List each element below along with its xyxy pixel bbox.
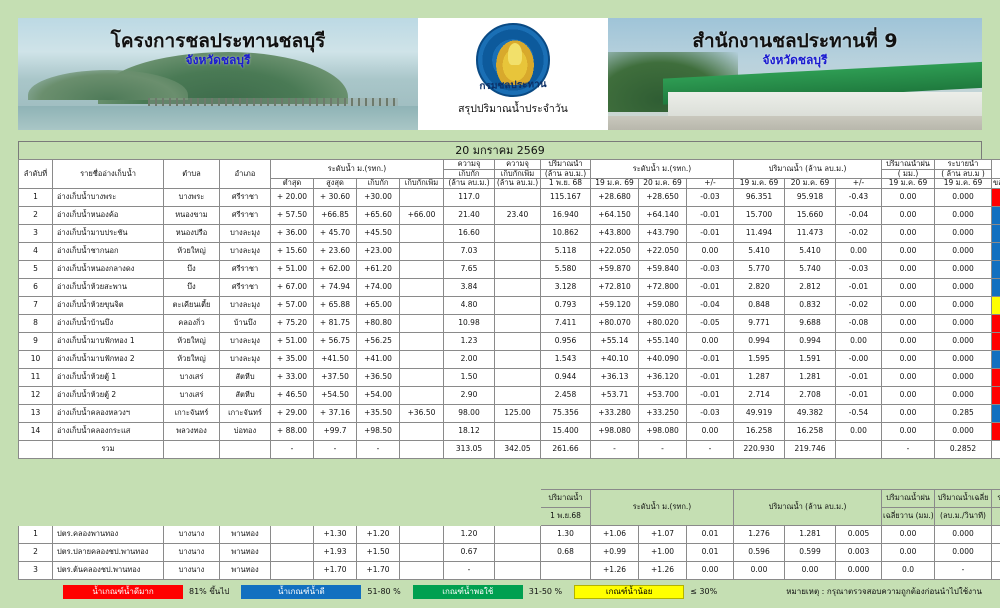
row-capacity: 16.60: [444, 224, 495, 242]
row-reservoir-name: อ่างเก็บน้ำห้วยตู้ 2: [53, 386, 164, 404]
row-level-day1: +43.800: [591, 224, 639, 242]
th-lowest: ต่ำสุด: [271, 179, 314, 189]
row-amphoe: บางละมุง: [220, 332, 271, 350]
sub-row-level-highest: +1.70: [357, 562, 400, 580]
sub-row-no: 1: [19, 526, 53, 544]
sub-row-blank-2: [400, 526, 444, 544]
sub-row-no: 3: [19, 562, 53, 580]
row-volume-nov: 0.956: [541, 332, 591, 350]
row-tambon: หนองขาม: [164, 206, 220, 224]
row-no: 10: [19, 350, 53, 368]
row-drainage: 0.000: [935, 314, 992, 332]
reservoir-summary-table: ลำดับที่ รายชื่ออ่างเก็บน้ำ ตำบล อำเภอ ร…: [18, 159, 1000, 459]
row-level-diff: -0.03: [687, 188, 734, 206]
total-drainage: 0.2852: [935, 440, 992, 458]
table-row: 5อ่างเก็บน้ำหนองกลางดงบึงศรีราชา+ 51.00+…: [19, 260, 1000, 278]
row-tambon: บึง: [164, 278, 220, 296]
table-row: 6อ่างเก็บน้ำห้วยสะพานบึงศรีราชา+ 67.00+ …: [19, 278, 1000, 296]
row-level-storage: +30.00: [357, 188, 400, 206]
sub-row-volume-diff: 0.005: [836, 526, 882, 544]
row-capacity: 117.0: [444, 188, 495, 206]
row-rainfall: 0.00: [882, 260, 935, 278]
row-capacity-extra: [495, 260, 541, 278]
th-drain-date: 19 ม.ค. 69: [935, 179, 992, 189]
row-level-storage: +35.50: [357, 404, 400, 422]
sub-row-capacity: 1.20: [444, 526, 495, 544]
table-row: 7อ่างเก็บน้ำห้วยขุนจิตตะเคียนเตี้ยบางละม…: [19, 296, 1000, 314]
row-volume-nov: 0.793: [541, 296, 591, 314]
row-level-storage-extra: +66.00: [400, 206, 444, 224]
table-row: 8อ่างเก็บน้ำบ้านบึงคลองกิ่วบ้านบึง+ 75.2…: [19, 314, 1000, 332]
row-no: 1: [19, 188, 53, 206]
row-level-lowest: + 57.50: [271, 206, 314, 224]
row-tambon: บางเสร่: [164, 386, 220, 404]
row-volume-nov: 16.940: [541, 206, 591, 224]
row-level-lowest: + 51.00: [271, 260, 314, 278]
sub-row-volume-day1: 1.276: [734, 526, 785, 544]
row-amphoe: สัตหีบ: [220, 386, 271, 404]
row-reservoir-name: อ่างเก็บน้ำบ้านบึง: [53, 314, 164, 332]
row-level-storage-extra: [400, 260, 444, 278]
total-highest: -: [314, 440, 357, 458]
row-no: 5: [19, 260, 53, 278]
row-volume-day2: 9.688: [785, 314, 836, 332]
row-level-storage-extra: [400, 386, 444, 404]
th-level-d2: 20 ม.ค. 69: [639, 179, 687, 189]
row-rainfall: 0.00: [882, 332, 935, 350]
row-level-day2: +59.080: [639, 296, 687, 314]
row-rainfall: 0.00: [882, 422, 935, 440]
row-volume-nov: 5.580: [541, 260, 591, 278]
row-level-storage-extra: [400, 332, 444, 350]
row-volume-nov: 5.118: [541, 242, 591, 260]
th-rain-l1: ปริมาณน้ำฝน: [882, 160, 935, 170]
row-amphoe: บางละมุง: [220, 296, 271, 314]
row-reservoir-name: อ่างเก็บน้ำมาบประชัน: [53, 224, 164, 242]
row-volume-day1: 49.919: [734, 404, 785, 422]
th-cap-storage-unit: (ล้าน ลบ.ม.): [444, 179, 495, 189]
sub-row-gate-lift: 0.00: [992, 544, 1000, 562]
table-row: 12อ่างเก็บน้ำห้วยตู้ 2บางเสร่สัตหีบ+ 46.…: [19, 386, 1000, 404]
row-level-storage-extra: [400, 422, 444, 440]
sub-row-level-day1: +0.99: [591, 544, 639, 562]
total-rainfall: -: [882, 440, 935, 458]
row-level-day2: +22.050: [639, 242, 687, 260]
sub-row-blank-3: [495, 562, 541, 580]
row-level-diff: -0.01: [687, 278, 734, 296]
th-rain-date: 19 ม.ค. 69: [882, 179, 935, 189]
row-level-diff: -0.01: [687, 206, 734, 224]
row-capacity-extra: [495, 188, 541, 206]
row-drainage: 0.000: [935, 206, 992, 224]
row-drainage: 0.000: [935, 332, 992, 350]
row-level-highest: + 56.75: [314, 332, 357, 350]
row-tambon: คลองกิ่ว: [164, 314, 220, 332]
row-volume-day2: 0.832: [785, 296, 836, 314]
row-level-diff: 0.00: [687, 242, 734, 260]
row-level-diff: -0.03: [687, 260, 734, 278]
row-level-diff: -0.04: [687, 296, 734, 314]
row-pct-old: 81.98: [992, 188, 1000, 206]
sub-row-level-day1: +1.06: [591, 526, 639, 544]
row-level-storage-extra: [400, 350, 444, 368]
sub-row-volume-day2: 0.599: [785, 544, 836, 562]
sub-th-vol-group: ปริมาณน้ำ (ล้าน ลบ.ม.): [734, 490, 882, 526]
sub-row-tambon: บางนาง: [164, 544, 220, 562]
row-capacity-extra: 23.40: [495, 206, 541, 224]
row-level-day1: +53.71: [591, 386, 639, 404]
total-blank-amphoe: [220, 440, 271, 458]
th-cap-storage-l1: ความจุ: [444, 160, 495, 170]
row-amphoe: เกาะจันทร์: [220, 404, 271, 422]
row-rainfall: 0.00: [882, 188, 935, 206]
row-level-highest: + 81.75: [314, 314, 357, 332]
ground-shape-icon: [608, 116, 982, 130]
sub-row-rainfall: 0.00: [882, 544, 935, 562]
row-level-day1: +36.13: [591, 368, 639, 386]
table-row: 1อ่างเก็บน้ำบางพระบางพระศรีราชา+ 20.00+ …: [19, 188, 1000, 206]
row-level-storage-extra: [400, 224, 444, 242]
row-volume-diff: -0.01: [836, 386, 882, 404]
list-item: 1ปตร.คลองพานทองบางนางพานทอง+1.30+1.201.2…: [19, 526, 1000, 544]
row-level-highest: + 65.88: [314, 296, 357, 314]
row-reservoir-name: อ่างเก็บน้ำห้วยสะพาน: [53, 278, 164, 296]
row-level-storage-extra: [400, 296, 444, 314]
row-capacity: 10.98: [444, 314, 495, 332]
row-level-storage: +80.80: [357, 314, 400, 332]
row-volume-day1: 2.820: [734, 278, 785, 296]
total-level-day1: -: [591, 440, 639, 458]
legend-swatch-green: เกณฑ์น้ำพอใช้: [413, 585, 523, 599]
row-pct-old: 75.03: [992, 260, 1000, 278]
total-level-diff: -: [687, 440, 734, 458]
row-level-storage-extra: [400, 314, 444, 332]
row-no: 13: [19, 404, 53, 422]
row-volume-day2: 2.708: [785, 386, 836, 404]
banner-left-image: โครงการชลประทานชลบุรี จังหวัดชลบุรี: [18, 18, 418, 130]
row-capacity: 4.80: [444, 296, 495, 314]
row-reservoir-name: อ่างเก็บน้ำมาบฟักทอง 1: [53, 332, 164, 350]
row-volume-day2: 49.382: [785, 404, 836, 422]
row-tambon: เกาะจันทร์: [164, 404, 220, 422]
row-level-diff: -0.01: [687, 386, 734, 404]
table-row: 13อ่างเก็บน้ำคลองหลวงฯเกาะจันทร์เกาะจันท…: [19, 404, 1000, 422]
legend-swatch-blue: น้ำเกณฑ์น้ำดี: [241, 585, 361, 599]
th-drain-l1: ระบายน้ำ: [935, 160, 992, 170]
sub-row-blank-1: [271, 562, 314, 580]
row-level-highest: +99.7: [314, 422, 357, 440]
th-cap-extra-l1: ความจุ: [495, 160, 541, 170]
row-level-day2: +98.080: [639, 422, 687, 440]
sub-row-volume-day1: 0.596: [734, 544, 785, 562]
table-row: 11อ่างเก็บน้ำห้วยตู้ 1บางเสร่สัตหีบ+ 33.…: [19, 368, 1000, 386]
sub-row-blank-1: [271, 526, 314, 544]
row-level-storage: +65.00: [357, 296, 400, 314]
row-volume-diff: -0.54: [836, 404, 882, 422]
table-row: 14อ่างเก็บน้ำคลองกระแสพลวงทองบ่อทอง+ 88.…: [19, 422, 1000, 440]
table-row: 4อ่างเก็บน้ำชากนอกห้วยใหญ่บางละมุง+ 15.6…: [19, 242, 1000, 260]
th-cap-storage-l2: เก็บกัก: [444, 169, 495, 179]
row-amphoe: บางละมุง: [220, 350, 271, 368]
list-item: 3ปตร.ต้นคลองชป.พานทองบางนางพานทอง+1.70+1…: [19, 562, 1000, 580]
legend-range-green: 31-50 %: [529, 587, 562, 596]
row-capacity-extra: [495, 242, 541, 260]
row-level-highest: + 37.16: [314, 404, 357, 422]
total-storage-extra: [400, 440, 444, 458]
sub-row-blank-3: [495, 526, 541, 544]
row-level-day1: +59.120: [591, 296, 639, 314]
row-rainfall: 0.00: [882, 296, 935, 314]
row-volume-diff: -0.02: [836, 224, 882, 242]
row-level-day1: +22.050: [591, 242, 639, 260]
th-pct1-l2: ของความจุเดิม: [992, 179, 1000, 189]
row-level-lowest: + 15.60: [271, 242, 314, 260]
row-amphoe: บ้านบึง: [220, 314, 271, 332]
th-reservoir: รายชื่ออ่างเก็บน้ำ: [53, 160, 164, 189]
sub-row-gate-lift: -: [992, 562, 1000, 580]
sub-row-volume-diff: 0.000: [836, 562, 882, 580]
sub-row-no: 2: [19, 544, 53, 562]
list-item: 2ปตร.ปลายคลองชป.พานทองบางนางพานทอง+1.93+…: [19, 544, 1000, 562]
sub-row-volume-day2: 1.281: [785, 526, 836, 544]
row-level-lowest: + 46.50: [271, 386, 314, 404]
row-level-highest: + 23.60: [314, 242, 357, 260]
total-blank-tambon: [164, 440, 220, 458]
row-rainfall: 0.00: [882, 386, 935, 404]
row-amphoe: บ่อทอง: [220, 422, 271, 440]
row-tambon: บึง: [164, 260, 220, 278]
row-level-lowest: + 67.00: [271, 278, 314, 296]
row-level-storage: +23.00: [357, 242, 400, 260]
row-tambon: ตะเคียนเตี้ย: [164, 296, 220, 314]
total-pct-old: 70.2: [992, 440, 1000, 458]
row-pct-old: 80.81: [992, 332, 1000, 350]
row-volume-diff: -0.04: [836, 206, 882, 224]
row-amphoe: ศรีราชา: [220, 278, 271, 296]
sub-row-blank-2: [400, 544, 444, 562]
row-capacity: 21.40: [444, 206, 495, 224]
row-volume-day2: 2.812: [785, 278, 836, 296]
row-tambon: ห้วยใหญ่: [164, 242, 220, 260]
row-level-lowest: + 57.00: [271, 296, 314, 314]
row-volume-day1: 2.714: [734, 386, 785, 404]
th-vol-l1: ปริมาณน้ำ: [541, 160, 591, 170]
row-no: 14: [19, 422, 53, 440]
th-drain-l2: ( ล้าน ลบ.ม ): [935, 169, 992, 179]
row-level-storage: +54.00: [357, 386, 400, 404]
table-row: 9อ่างเก็บน้ำมาบฟักทอง 1ห้วยใหญ่บางละมุง+…: [19, 332, 1000, 350]
row-level-day1: +28.680: [591, 188, 639, 206]
sub-row-level-highest: +1.50: [357, 544, 400, 562]
th-highest: สูงสุด: [314, 179, 357, 189]
row-volume-nov: 3.128: [541, 278, 591, 296]
row-level-storage: +74.00: [357, 278, 400, 296]
row-rainfall: 0.00: [882, 278, 935, 296]
total-blank-no: [19, 440, 53, 458]
row-pct-old: 85.40: [992, 368, 1000, 386]
row-level-day2: +40.090: [639, 350, 687, 368]
row-capacity: 7.65: [444, 260, 495, 278]
royal-irrigation-seal-icon: กรมชลประทาน: [476, 23, 550, 97]
row-level-storage: +56.25: [357, 332, 400, 350]
row-level-storage: +36.50: [357, 368, 400, 386]
row-level-day2: +55.140: [639, 332, 687, 350]
sub-th-avg-l1: ปริมาณน้ำเฉลี่ย: [935, 490, 992, 508]
row-capacity-extra: 125.00: [495, 404, 541, 422]
row-level-day1: +59.870: [591, 260, 639, 278]
th-vol-l2: (ล้าน ลบ.ม.): [541, 169, 591, 179]
sub-row-level-day2: +1.26: [639, 562, 687, 580]
row-reservoir-name: อ่างเก็บน้ำคลองหลวงฯ: [53, 404, 164, 422]
sub-row-rainfall: 0.00: [882, 526, 935, 544]
th-vol-d2: 20 ม.ค. 69: [785, 179, 836, 189]
th-storage: เก็บกัก: [357, 179, 400, 189]
row-no: 3: [19, 224, 53, 242]
sub-row-volume-nov: 1.30: [541, 526, 591, 544]
row-drainage: 0.000: [935, 422, 992, 440]
row-no: 11: [19, 368, 53, 386]
row-level-day2: +28.650: [639, 188, 687, 206]
th-amphoe: อำเภอ: [220, 160, 271, 189]
row-volume-day1: 1.595: [734, 350, 785, 368]
row-level-storage: +98.50: [357, 422, 400, 440]
row-level-day2: +43.790: [639, 224, 687, 242]
total-label: รวม: [53, 440, 164, 458]
row-level-highest: +41.50: [314, 350, 357, 368]
sub-row-avg-flow: 0.000: [935, 526, 992, 544]
th-cap-extra-l2: เก็บกักเพิ่ม: [495, 169, 541, 179]
sub-row-capacity: 0.67: [444, 544, 495, 562]
row-capacity-extra: [495, 314, 541, 332]
row-no: 4: [19, 242, 53, 260]
sub-row-level-day2: +1.07: [639, 526, 687, 544]
row-volume-nov: 1.543: [541, 350, 591, 368]
th-storage-extra: เก็บกักเพิ่ม: [400, 179, 444, 189]
total-volume-day1: 220.930: [734, 440, 785, 458]
water-shape-icon: [18, 106, 418, 130]
table-row: 2อ่างเก็บน้ำหนองค้อหนองขามศรีราชา+ 57.50…: [19, 206, 1000, 224]
row-volume-day1: 5.410: [734, 242, 785, 260]
row-volume-day2: 0.994: [785, 332, 836, 350]
gate-structure-table: ปริมาณน้ำ ระดับน้ำ ม.(รทก.) ปริมาณน้ำ (ล…: [18, 489, 1000, 580]
th-no: ลำดับที่: [19, 160, 53, 189]
row-rainfall: 0.00: [882, 368, 935, 386]
row-pct-old: 93.38: [992, 386, 1000, 404]
sub-th-lift-l2: ( ม.): [992, 508, 1000, 526]
row-volume-day2: 1.281: [785, 368, 836, 386]
row-level-highest: + 45.70: [314, 224, 357, 242]
row-drainage: 0.000: [935, 242, 992, 260]
row-amphoe: บางละมุง: [220, 224, 271, 242]
row-drainage: 0.000: [935, 260, 992, 278]
row-volume-day1: 0.994: [734, 332, 785, 350]
row-amphoe: ศรีราชา: [220, 188, 271, 206]
sub-row-level-diff: 0.00: [687, 562, 734, 580]
row-capacity: 1.23: [444, 332, 495, 350]
total-volume-diff: [836, 440, 882, 458]
sub-row-volume-diff: 0.003: [836, 544, 882, 562]
row-level-storage: +61.20: [357, 260, 400, 278]
row-volume-diff: -0.01: [836, 368, 882, 386]
legend-bar: น้ำเกณฑ์น้ำดีมาก 81% ขึ้นไป น้ำเกณฑ์น้ำด…: [18, 583, 982, 600]
legend-swatch-red: น้ำเกณฑ์น้ำดีมาก: [63, 585, 183, 599]
total-capacity-extra: 342.05: [495, 440, 541, 458]
total-level-day2: -: [639, 440, 687, 458]
banner-center-logo-area: กรมชลประทาน สรุปปริมาณน้ำประจำวัน: [418, 18, 608, 130]
row-level-day1: +98.080: [591, 422, 639, 440]
th-water-level-group: ระดับน้ำ ม.(รทก.): [271, 160, 444, 179]
sub-row-name: ปตร.คลองพานทอง: [53, 526, 164, 544]
row-no: 6: [19, 278, 53, 296]
report-date: 20 มกราคม 2569: [18, 141, 982, 159]
row-level-day1: +64.150: [591, 206, 639, 224]
sub-row-amphoe: พานทอง: [220, 562, 271, 580]
reservoir-rows: 1อ่างเก็บน้ำบางพระบางพระศรีราชา+ 20.00+ …: [19, 188, 1000, 458]
row-drainage: 0.000: [935, 350, 992, 368]
row-volume-day2: 5.740: [785, 260, 836, 278]
table-header-row-1: ลำดับที่ รายชื่ออ่างเก็บน้ำ ตำบล อำเภอ ร…: [19, 160, 1000, 170]
row-level-diff: -0.01: [687, 368, 734, 386]
row-tambon: บางพระ: [164, 188, 220, 206]
row-drainage: 0.000: [935, 188, 992, 206]
sub-th-rain-l1: ปริมาณน้ำฝน: [882, 490, 935, 508]
banner-left-subtitle: จังหวัดชลบุรี: [18, 51, 418, 70]
total-volume-nov: 261.66: [541, 440, 591, 458]
row-rainfall: 0.00: [882, 350, 935, 368]
row-capacity: 3.84: [444, 278, 495, 296]
row-level-diff: -0.03: [687, 404, 734, 422]
sub-row-capacity: -: [444, 562, 495, 580]
row-rainfall: 0.00: [882, 242, 935, 260]
row-rainfall: 0.00: [882, 224, 935, 242]
th-rain-l2: ( มม.): [882, 169, 935, 179]
row-level-lowest: + 33.00: [271, 368, 314, 386]
sub-row-name: ปตร.ต้นคลองชป.พานทอง: [53, 562, 164, 580]
row-volume-diff: 0.00: [836, 332, 882, 350]
row-volume-day1: 15.700: [734, 206, 785, 224]
th-cap-extra-unit: (ล้าน ลบ.ม.): [495, 179, 541, 189]
sub-th-vol-l2: 1 พ.ย.68: [541, 508, 591, 526]
row-level-lowest: + 51.00: [271, 332, 314, 350]
row-drainage: 0.000: [935, 278, 992, 296]
row-reservoir-name: อ่างเก็บน้ำห้วยตู้ 1: [53, 368, 164, 386]
banner-right-image: สำนักงานชลประทานที่ 9 จังหวัดชลบุรี: [608, 18, 982, 130]
row-tambon: บางเสร่: [164, 368, 220, 386]
th-level-group-2: ระดับน้ำ ม.(รทก.): [591, 160, 734, 179]
row-volume-day1: 16.258: [734, 422, 785, 440]
sub-row-amphoe: พานทอง: [220, 544, 271, 562]
row-rainfall: 0.00: [882, 206, 935, 224]
row-level-highest: + 74.94: [314, 278, 357, 296]
row-volume-day1: 1.287: [734, 368, 785, 386]
sub-row-blank-1: [271, 544, 314, 562]
row-level-storage-extra: [400, 242, 444, 260]
row-volume-day2: 5.410: [785, 242, 836, 260]
row-amphoe: สัตหีบ: [220, 368, 271, 386]
row-capacity: 7.03: [444, 242, 495, 260]
row-volume-day2: 16.258: [785, 422, 836, 440]
sub-row-level-diff: 0.01: [687, 544, 734, 562]
legend-note: หมายเหตุ : กรุณาตรวจสอบความถูกต้องก่อนนำ…: [786, 585, 982, 598]
row-reservoir-name: อ่างเก็บน้ำชากนอก: [53, 242, 164, 260]
row-level-lowest: + 35.00: [271, 350, 314, 368]
row-level-highest: +66.85: [314, 206, 357, 224]
row-amphoe: ศรีราชา: [220, 206, 271, 224]
legend-range-yellow: ≤ 30%: [690, 587, 717, 596]
row-volume-day1: 96.351: [734, 188, 785, 206]
row-tambon: ห้วยใหญ่: [164, 332, 220, 350]
row-level-day1: +33.280: [591, 404, 639, 422]
